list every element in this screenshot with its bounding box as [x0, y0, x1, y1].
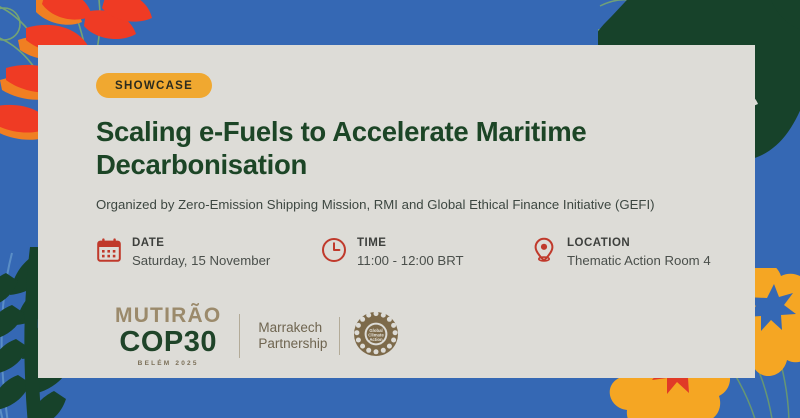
- cop30-logo: MUTIRÃO COP30 BELÉM 2025: [115, 305, 221, 368]
- marrakech-divider: [339, 317, 340, 355]
- showcase-badge: SHOWCASE: [96, 73, 212, 98]
- map-pin-icon: [531, 237, 557, 268]
- logo-divider: [239, 314, 240, 358]
- calendar-icon: [96, 237, 122, 268]
- date-value: Saturday, 15 November: [132, 252, 270, 270]
- location-value: Thematic Action Room 4: [567, 252, 711, 270]
- logo-bar: MUTIRÃO COP30 BELÉM 2025 Marrakech Partn…: [115, 305, 400, 368]
- event-time-item: TIME 11:00 - 12:00 BRT: [321, 236, 531, 270]
- event-banner: SHOWCASE Scaling e-Fuels to Accelerate M…: [0, 0, 800, 418]
- time-value: 11:00 - 12:00 BRT: [357, 252, 464, 270]
- cop30-text: COP30: [115, 328, 221, 357]
- event-date-item: DATE Saturday, 15 November: [96, 236, 321, 270]
- emblem-line-3: Action: [370, 337, 384, 342]
- global-climate-action-emblem-icon: Global Climate Action: [352, 310, 400, 363]
- marrakech-line-1: Marrakech: [258, 320, 327, 336]
- marrakech-line-2: Partnership: [258, 336, 327, 352]
- marrakech-partnership-logo: Marrakech Partnership: [258, 310, 400, 363]
- cop30-mutirao-text: MUTIRÃO: [115, 305, 221, 326]
- event-subtitle: Organized by Zero-Emission Shipping Miss…: [96, 196, 735, 214]
- location-label: LOCATION: [567, 236, 711, 250]
- event-title: Scaling e-Fuels to Accelerate Maritime D…: [96, 115, 696, 182]
- marrakech-partnership-text: Marrakech Partnership: [258, 320, 327, 353]
- date-label: DATE: [132, 236, 270, 250]
- cop30-belem-text: BELÉM 2025: [115, 361, 221, 368]
- clock-icon: [321, 237, 347, 268]
- event-details-row: DATE Saturday, 15 November TIME 11:0: [96, 236, 735, 270]
- time-label: TIME: [357, 236, 464, 250]
- event-location-item: LOCATION Thematic Action Room 4: [531, 236, 711, 270]
